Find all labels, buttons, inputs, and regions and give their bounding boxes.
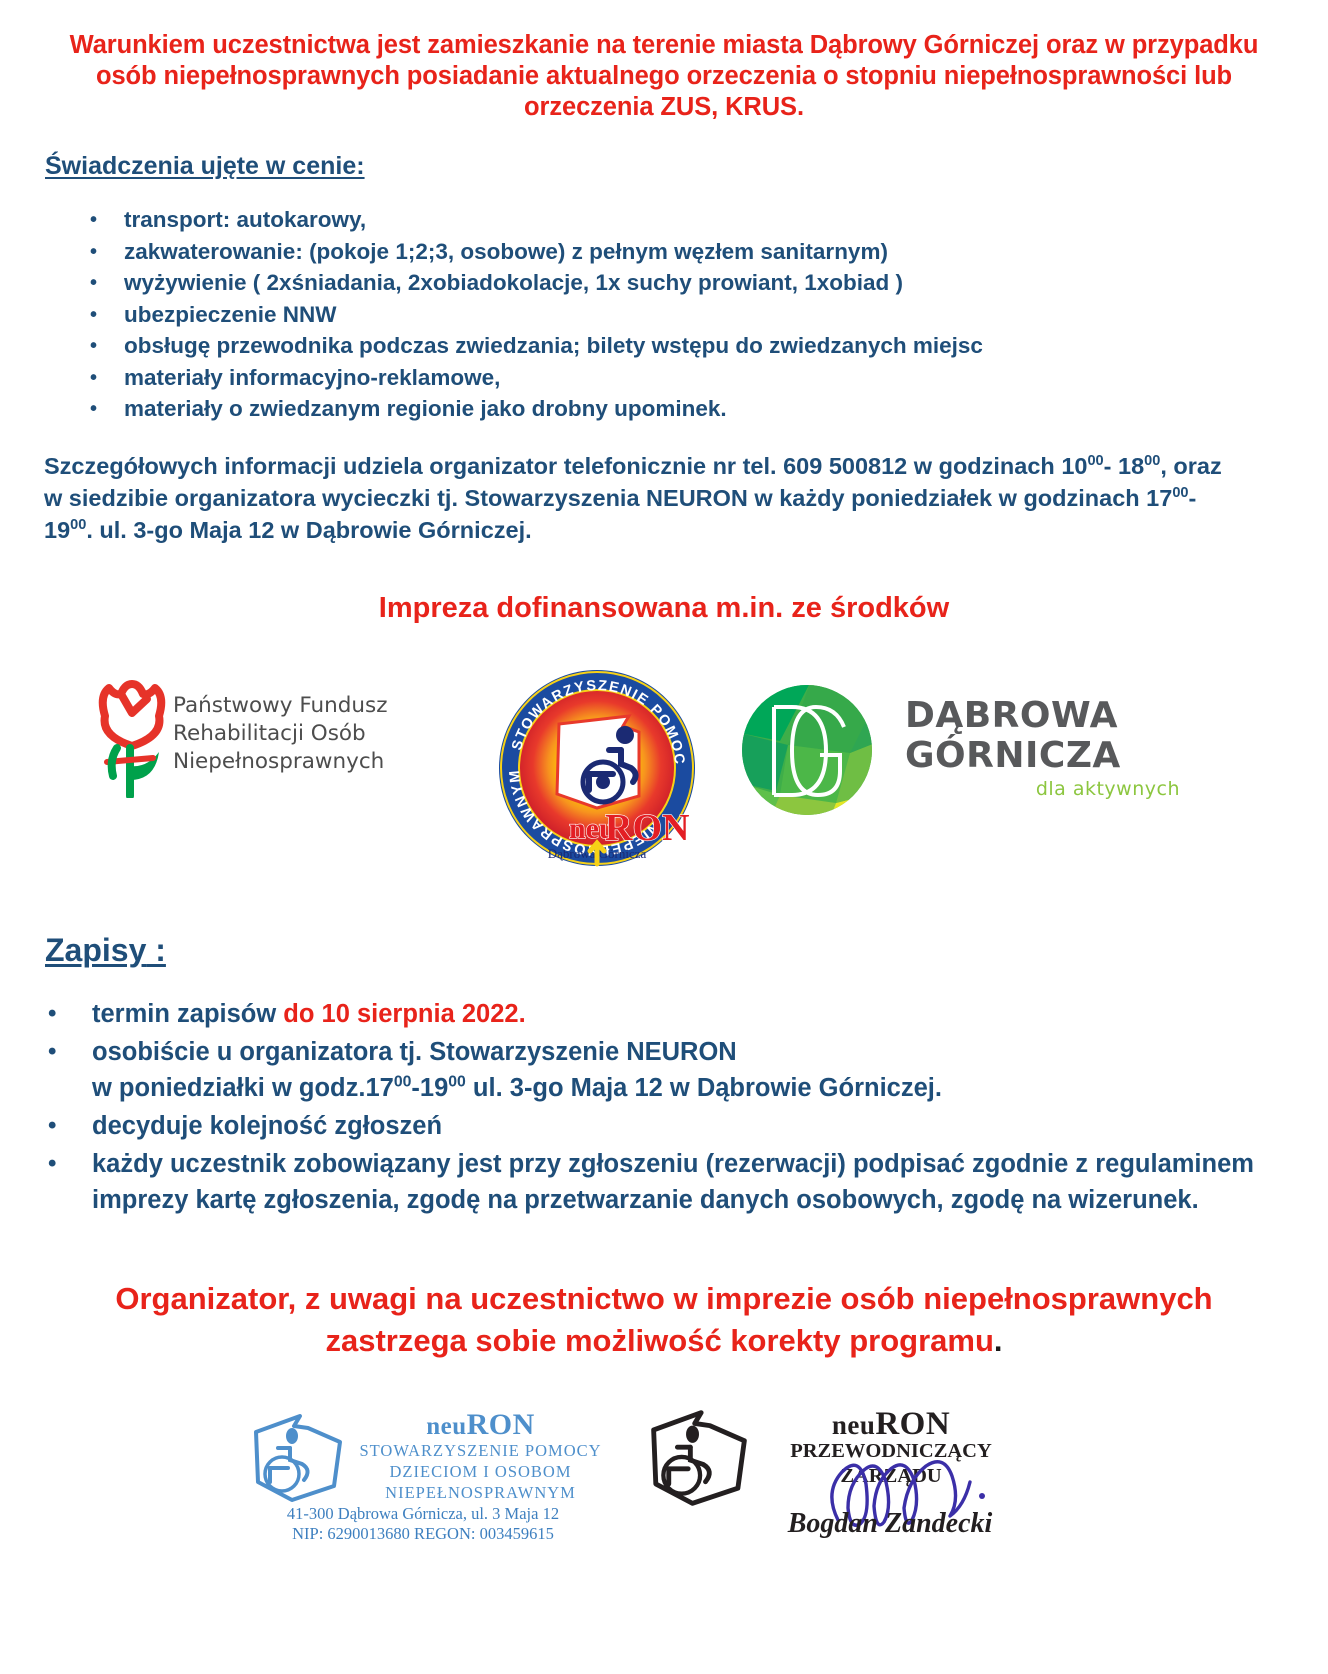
list-item: •transport: autokarowy, xyxy=(124,205,1244,236)
bullet-icon: • xyxy=(90,205,97,236)
blue-stamp-neu: neu xyxy=(426,1413,466,1440)
list-item: •osobiście u organizatora tj. Stowarzysz… xyxy=(92,1034,1262,1106)
info-text-4: . ul. 3-go Maja 12 w Dąbrowie Górniczej. xyxy=(86,517,531,543)
hour2-open: 17 xyxy=(1146,485,1172,511)
bullet-icon: • xyxy=(90,237,97,268)
reg-hour-close: 19 xyxy=(420,1074,448,1102)
bullet-icon: • xyxy=(48,1034,56,1070)
reg-hour-close-sup: 00 xyxy=(448,1074,466,1091)
black-stamp-wordmark: neuRON xyxy=(757,1410,1025,1439)
hour2-close: 19 xyxy=(44,517,70,543)
consent-rule: każdy uczestnik zobowiązany jest przy zg… xyxy=(92,1150,1254,1214)
program-change-disclaimer: Organizator, z uwagi na uczestnictwo w i… xyxy=(55,1278,1273,1362)
reg-hour-open: 17 xyxy=(365,1074,393,1102)
bullet-icon: • xyxy=(90,300,97,331)
bullet-icon: • xyxy=(90,363,97,394)
list-item: •materiały o zwiedzanym regionie jako dr… xyxy=(124,394,1244,425)
bullet-icon: • xyxy=(90,268,97,299)
black-stamp-neu: neu xyxy=(832,1410,876,1440)
blue-stamp-line-2: DZIECIOM I OSOBOM xyxy=(353,1461,608,1482)
list-item: •zakwaterowanie: (pokoje 1;2;3, osobowe)… xyxy=(124,237,1244,268)
pfron-line-3: Niepełnosprawnych xyxy=(173,748,443,776)
list-item: •decyduje kolejność zgłoszeń xyxy=(92,1108,1262,1144)
list-item: •wyżywienie ( 2xśniadania, 2xobiadokolac… xyxy=(124,268,1244,299)
blue-stamp-line-1: STOWARZYSZENIE POMOCY xyxy=(353,1440,608,1461)
info-text-1: Szczegółowych informacji udziela organiz… xyxy=(44,453,783,479)
participation-notice: Warunkiem uczestnictwa jest zamieszkanie… xyxy=(60,30,1268,123)
blue-stamp-ron: RON xyxy=(467,1408,535,1441)
order-rule: decyduje kolejność zgłoszeń xyxy=(92,1112,442,1140)
dg-monogram-icon xyxy=(740,683,875,818)
registration-section-title: Zapisy : xyxy=(45,932,166,969)
deadline-label: termin zapisów xyxy=(92,1000,283,1028)
reg-hour-open-sup: 00 xyxy=(394,1074,412,1091)
hour-open-sup: 00 xyxy=(1087,453,1103,469)
list-item: •materiały informacyjno-reklamowe, xyxy=(124,363,1244,394)
registration-title-colon: : xyxy=(146,932,166,968)
bullet-icon: • xyxy=(90,394,97,425)
blue-stamp-text: neuRON STOWARZYSZENIE POMOCY DZIECIOM I … xyxy=(353,1412,608,1503)
hour-close: 18 xyxy=(1118,453,1144,479)
dg-tagline: dla aktywnych xyxy=(905,778,1180,800)
bullet-icon: • xyxy=(48,1146,56,1182)
pfron-line-1: Państwowy Fundusz xyxy=(173,692,443,720)
wheelchair-hexagon-icon xyxy=(248,1412,348,1504)
phone-number: 609 500812 xyxy=(783,453,907,479)
pfron-logo: Państwowy Fundusz Rehabilitacji Osób Nie… xyxy=(95,680,445,810)
blue-stamp-line-3: NIEPEŁNOSPRAWNYM xyxy=(353,1482,608,1503)
poster-page: Warunkiem uczestnictwa jest zamieszkanie… xyxy=(0,0,1328,1674)
bullet-icon: • xyxy=(48,1108,56,1144)
chairman-stamp-black: neuRON PRZEWODNICZĄCY ZARZĄDU Bogdan Zan… xyxy=(645,1408,1025,1558)
dg-line-1: DĄBROWA xyxy=(905,696,1180,736)
neuron-wordmark-ron: RON xyxy=(605,807,689,849)
list-item: •każdy uczestnik zobowiązany jest przy z… xyxy=(92,1146,1262,1218)
sponsor-logo-row: Państwowy Fundusz Rehabilitacji Osób Nie… xyxy=(0,655,1328,875)
neuron-round-logo: STOWARZYSZENIE POMOCY DZIECIOM I OSOBOM … xyxy=(497,668,697,868)
bullet-icon: • xyxy=(90,331,97,362)
list-item: •obsługę przewodnika podczas zwiedzania;… xyxy=(124,331,1244,362)
pfron-line-2: Rehabilitacji Osób xyxy=(173,720,443,748)
blue-stamp-address-block: 41-300 Dąbrowa Górnicza, ul. 3 Maja 12 N… xyxy=(248,1504,598,1544)
dg-line-2: GÓRNICZA xyxy=(905,736,1180,776)
services-list: •transport: autokarowy, •zakwaterowanie:… xyxy=(124,205,1244,426)
info-text-2: w godzinach xyxy=(907,453,1061,479)
dabrowa-gornicza-logo: DĄBROWA GÓRNICZA dla aktywnych xyxy=(740,683,1180,818)
list-item: •termin zapisów do 10 sierpnia 2022. xyxy=(92,996,1262,1032)
dg-wordmark: DĄBROWA GÓRNICZA xyxy=(905,696,1180,776)
disclaimer-period: . xyxy=(994,1323,1003,1358)
hour-dash-1: - xyxy=(1104,453,1118,479)
in-person-hours-pre: w poniedziałki w godz. xyxy=(92,1074,365,1102)
in-person-address: ul. 3-go Maja 12 w Dąbrowie Górniczej. xyxy=(466,1074,942,1102)
in-person-line-1: osobiście u organizatora tj. Stowarzysze… xyxy=(92,1038,737,1066)
wheelchair-hexagon-icon xyxy=(645,1408,753,1508)
services-section-title: Świadczenia ujęte w cenie: xyxy=(45,152,365,181)
blue-stamp-nip-regon: NIP: 6290013680 REGON: 003459615 xyxy=(248,1524,598,1544)
contact-info-paragraph: Szczegółowych informacji udziela organiz… xyxy=(44,450,1234,546)
list-item: •ubezpieczenie NNW xyxy=(124,300,1244,331)
disclaimer-text: Organizator, z uwagi na uczestnictwo w i… xyxy=(115,1281,1212,1358)
deadline-date: do 10 sierpnia 2022. xyxy=(283,1000,525,1028)
hour2-open-sup: 00 xyxy=(1172,485,1188,501)
pfron-wordmark: Państwowy Fundusz Rehabilitacji Osób Nie… xyxy=(173,692,443,776)
organization-stamp-blue: neuRON STOWARZYSZENIE POMOCY DZIECIOM I … xyxy=(248,1412,608,1542)
blue-stamp-wordmark: neuRON xyxy=(353,1412,608,1440)
reg-hour-dash: - xyxy=(411,1074,420,1102)
hour2-close-sup: 00 xyxy=(70,517,86,533)
black-stamp-ron: RON xyxy=(875,1406,950,1442)
funding-heading: Impreza dofinansowana m.in. ze środków xyxy=(60,592,1268,625)
registration-title-word: Zapisy xyxy=(45,932,146,968)
bullet-icon: • xyxy=(48,996,56,1032)
signature-name: Bogdan Zandecki xyxy=(750,1508,1030,1540)
registration-list: •termin zapisów do 10 sierpnia 2022. •os… xyxy=(92,996,1262,1220)
hour-dash-2: - xyxy=(1189,485,1197,511)
hour-close-sup: 00 xyxy=(1144,453,1160,469)
tulip-icon xyxy=(95,680,169,798)
blue-stamp-address: 41-300 Dąbrowa Górnicza, ul. 3 Maja 12 xyxy=(248,1504,598,1524)
hour-open: 10 xyxy=(1061,453,1087,479)
